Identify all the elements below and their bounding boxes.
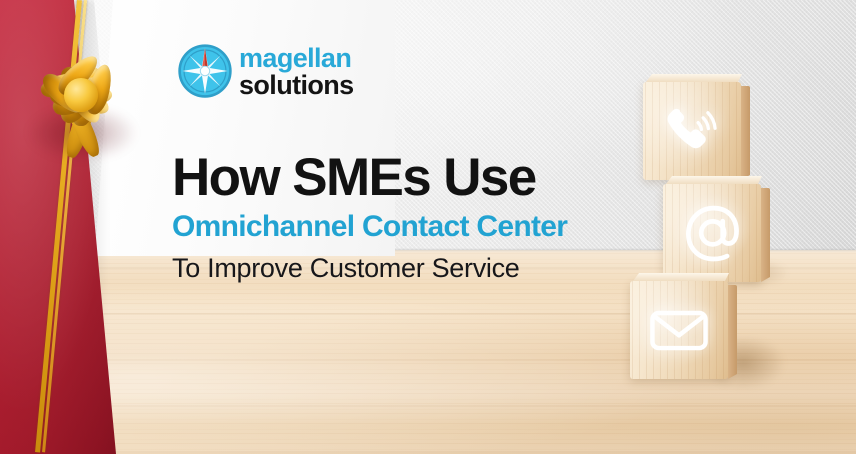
wooden-block-envelope [630,281,728,379]
logo-word-secondary: solutions [239,71,354,99]
gold-gift-bow [18,28,144,162]
block-top-face [666,176,762,184]
compass-rose-icon [177,43,233,99]
logo-word-primary: magellan [239,45,354,71]
headline-line-3: To Improve Customer Service [172,250,642,286]
block-top-face [633,273,729,281]
logo-wordmark: magellan solutions [239,45,354,99]
headline-block: How SMEs Use Omnichannel Contact Center … [172,150,642,286]
envelope-icon [630,281,728,379]
block-side-face [728,285,737,379]
phone-call-icon [643,82,741,180]
at-sign-icon [663,184,761,282]
block-side-face [761,188,770,282]
wooden-block-phone [643,82,741,180]
magellan-solutions-logo: magellan solutions [177,43,352,101]
block-top-face [646,74,742,82]
bow-center [64,78,98,112]
wooden-block-at-sign [663,184,761,282]
blog-banner-image: magellan solutions How SMEs Use Omnichan… [0,0,856,454]
headline-line-1: How SMEs Use [172,150,642,206]
block-side-face [741,86,750,180]
headline-line-2: Omnichannel Contact Center [172,208,642,246]
